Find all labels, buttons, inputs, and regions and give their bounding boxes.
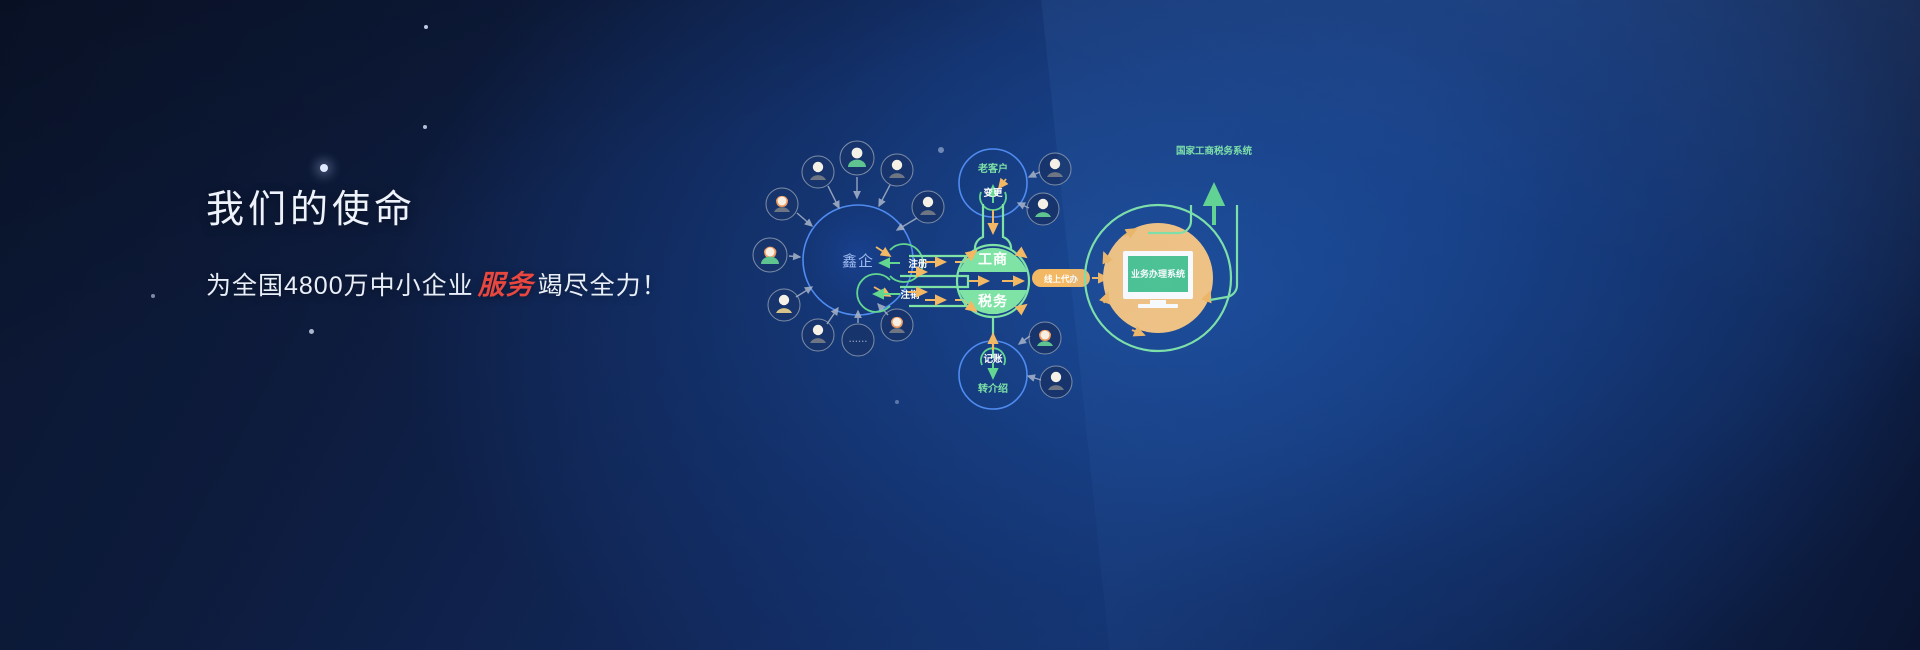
subtitle-highlight: 服务	[474, 270, 538, 300]
avatar-item	[768, 289, 800, 321]
tax-label: 税务	[978, 293, 1008, 309]
decor-dot-4	[309, 329, 314, 334]
change-label: 变更	[983, 187, 1003, 199]
bookkeeping-label: 记账	[983, 353, 1003, 365]
change-down-arrow	[999, 179, 1006, 188]
deregister-label: 注销	[900, 289, 920, 301]
hero-banner: 我们的使命 为全国4800万中小企业服务竭尽全力！	[0, 0, 1920, 650]
avatar-item	[1027, 193, 1059, 225]
avatar-item	[753, 238, 787, 272]
online-agency-label: 线上代办	[1044, 274, 1079, 284]
avatar-item	[802, 156, 834, 188]
avatar-item	[1039, 153, 1071, 185]
page-title: 我们的使命	[206, 178, 668, 233]
service-flow-diagram: 鑫企 • • • • • •	[740, 120, 1280, 420]
avatar-item	[1029, 322, 1061, 354]
mission-subtitle: 为全国4800万中小企业服务竭尽全力！	[206, 263, 668, 302]
mission-copy: 我们的使命 为全国4800万中小企业服务竭尽全力！	[206, 178, 668, 302]
avatar-placeholder-label: • • • • • •	[849, 339, 867, 345]
commerce-label: 工商	[978, 251, 1008, 267]
decor-dot-2	[423, 125, 427, 129]
avatar-item	[802, 319, 834, 351]
referral-label: 转介绍	[978, 382, 1008, 395]
old-customer-label: 老客户	[977, 162, 1008, 175]
national-system-label: 国家工商税务系统	[1176, 145, 1253, 157]
subtitle-before: 为全国4800万中小企业	[206, 272, 474, 300]
register-label: 注册	[908, 258, 928, 270]
avatar-item	[881, 309, 913, 341]
avatar-placeholder-item: • • • • • •	[842, 324, 874, 356]
decor-dot-3	[320, 164, 328, 172]
avatar-item	[766, 188, 798, 220]
company-label: 鑫企	[842, 252, 874, 270]
avatar-item	[881, 154, 913, 186]
avatar-item	[840, 141, 874, 175]
subtitle-after: 竭尽全力！	[538, 272, 668, 300]
old-customer-circle	[959, 149, 1027, 217]
decor-dot-5	[151, 294, 155, 298]
business-system-label: 业务办理系统	[1131, 268, 1185, 279]
decor-dot-1	[424, 25, 428, 29]
avatar-item	[1040, 366, 1072, 398]
